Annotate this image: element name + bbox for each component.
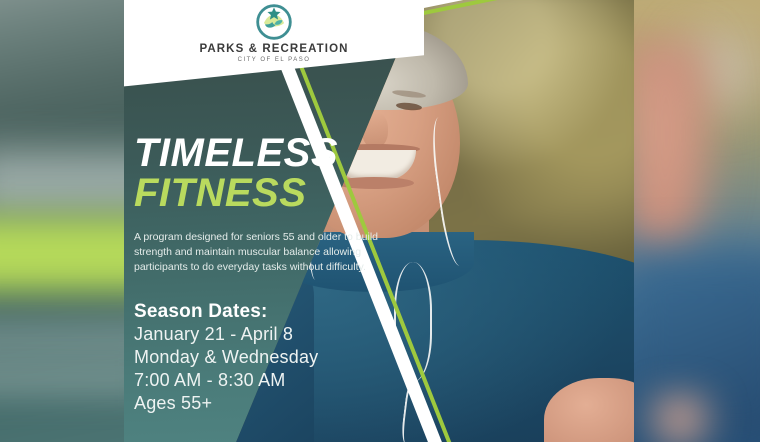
- headline-line-1: TIMELESS: [134, 132, 424, 174]
- poster-content: TIMELESS FITNESS A program designed for …: [134, 132, 424, 415]
- backdrop-left-blur-text-1: [0, 320, 132, 360]
- program-description: A program designed for seniors 55 and ol…: [134, 230, 386, 275]
- poster: PARKS & RECREATION CITY OF EL PASO TIMEL…: [124, 0, 634, 442]
- season-dates-line: Monday & Wednesday: [134, 346, 424, 369]
- backdrop-left-blur-white: [0, 150, 132, 220]
- backdrop-left: [0, 0, 132, 442]
- photo-eye-left: [320, 103, 347, 113]
- backdrop-left-blur-green: [0, 215, 132, 293]
- parks-recreation-circle-badge-icon: [256, 4, 292, 40]
- season-dates-line: 7:00 AM - 8:30 AM: [134, 369, 424, 392]
- backdrop-right: [630, 0, 760, 442]
- season-dates-heading: Season Dates:: [134, 301, 424, 323]
- flyer-image: PARKS & RECREATION CITY OF EL PASO TIMEL…: [0, 0, 760, 442]
- season-dates-line: January 21 - April 8: [134, 323, 424, 346]
- logo-title: PARKS & RECREATION: [199, 43, 348, 55]
- season-dates-line: Ages 55+: [134, 392, 424, 415]
- backdrop-right-blur-face: [630, 40, 714, 270]
- backdrop-right-blur-hand: [640, 390, 720, 442]
- logo: PARKS & RECREATION CITY OF EL PASO: [124, 4, 424, 63]
- logo-subtitle: CITY OF EL PASO: [238, 57, 311, 63]
- backdrop-left-blur-text-2: [0, 368, 132, 394]
- headline-line-2: FITNESS: [134, 172, 424, 214]
- photo-eyebrow-left: [316, 90, 350, 100]
